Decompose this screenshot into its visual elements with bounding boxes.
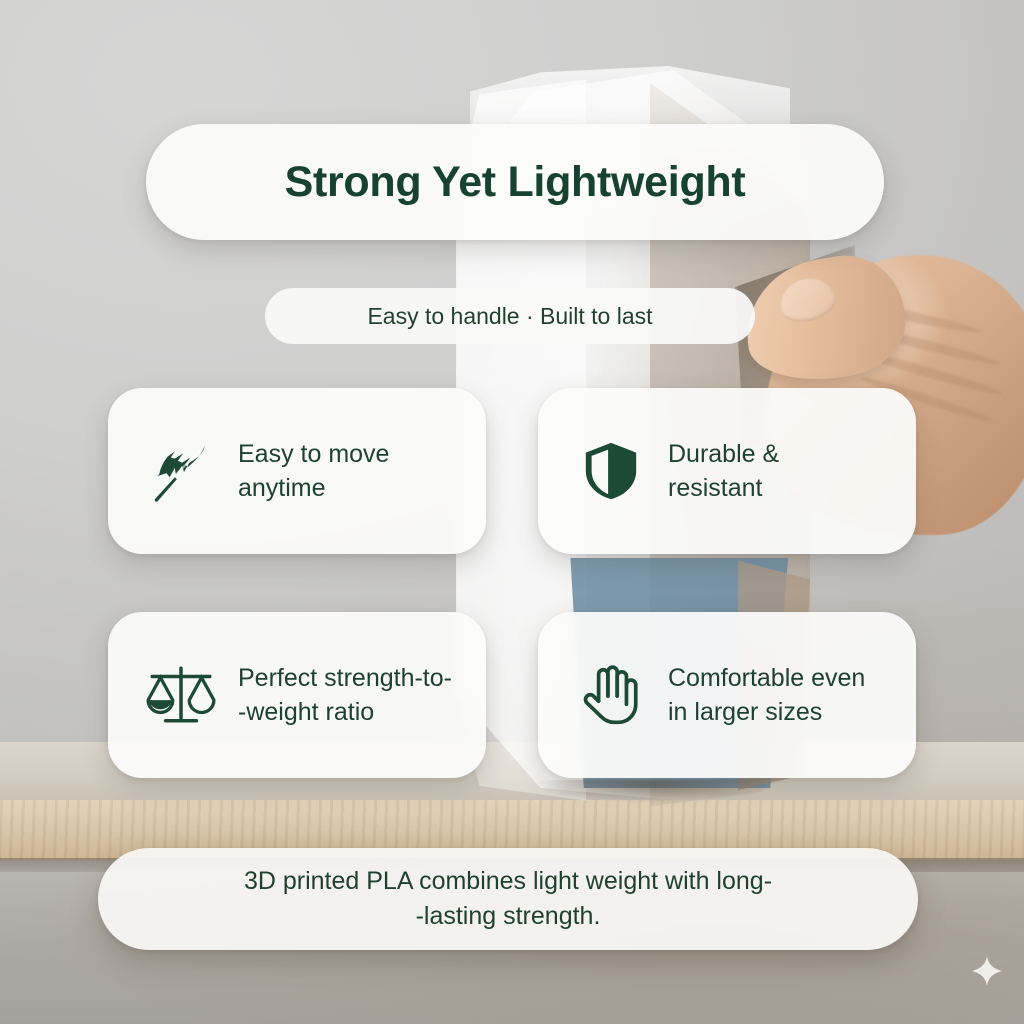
footer-banner: 3D printed PLA combines light weight wit… [98, 848, 918, 950]
feature-card-durable: Durable & resistant [538, 388, 916, 554]
feature-card-label: Perfect strength-to- -weight ratio [238, 661, 452, 730]
feature-card-label: Easy to move anytime [238, 437, 389, 506]
feature-card-comfort: Comfortable even in larger sizes [538, 612, 916, 778]
page-subtitle-text: Easy to handle · Built to last [367, 303, 652, 330]
feather-icon [142, 432, 220, 510]
feature-card-label: Durable & resistant [668, 437, 779, 506]
shield-icon [572, 432, 650, 510]
balance-scale-icon [142, 656, 220, 734]
feature-card-ratio: Perfect strength-to- -weight ratio [108, 612, 486, 778]
page-subtitle: Easy to handle · Built to last [265, 288, 755, 344]
feature-card-move: Easy to move anytime [108, 388, 486, 554]
page-title-text: Strong Yet Lightweight [285, 158, 746, 207]
footer-text: 3D printed PLA combines light weight wit… [244, 864, 772, 935]
sparkle-icon [972, 956, 1002, 986]
open-hand-icon [572, 656, 650, 734]
feature-card-label: Comfortable even in larger sizes [668, 661, 865, 730]
page-title: Strong Yet Lightweight [146, 124, 884, 240]
infographic-overlay: Strong Yet Lightweight Easy to handle · … [0, 0, 1024, 1024]
